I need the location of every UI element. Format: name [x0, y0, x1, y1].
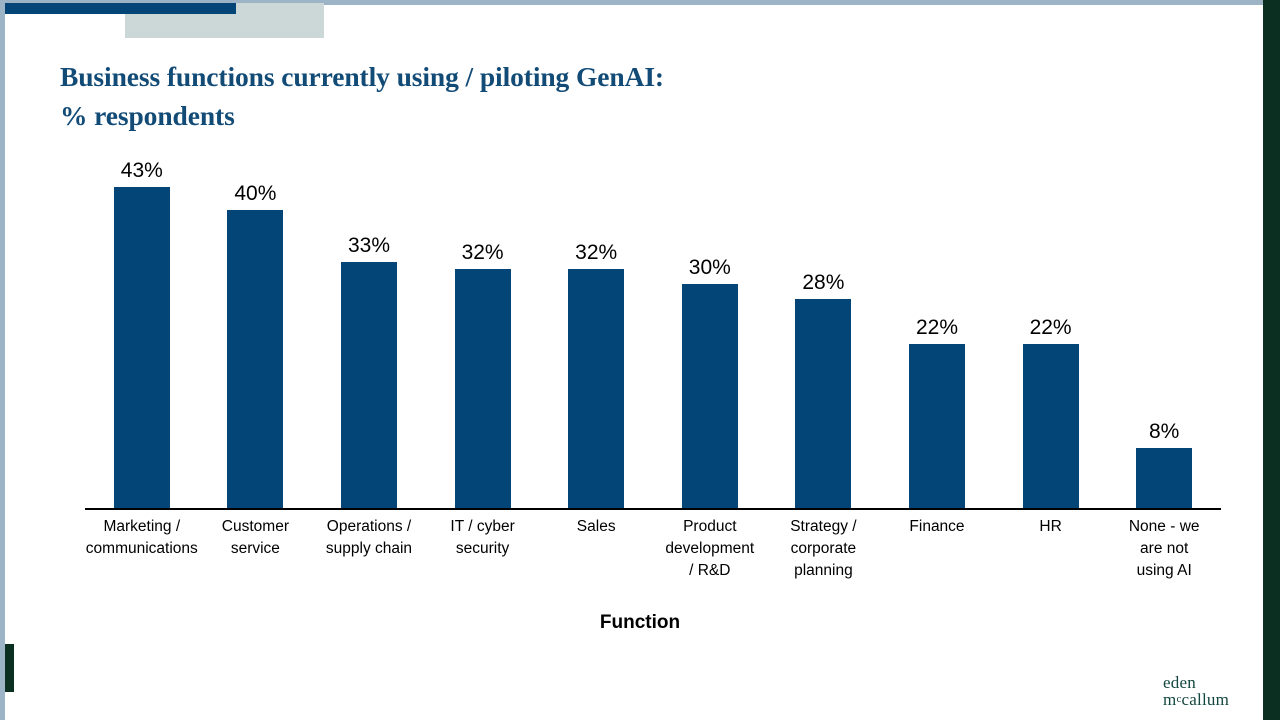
- bar-slot: 30%: [653, 150, 767, 508]
- chart-category-labels: Marketing /communicationsCustomerservice…: [85, 516, 1221, 606]
- chart-bar[interactable]: [227, 210, 283, 508]
- category-label-line: using AI: [1107, 560, 1221, 582]
- category-label-line: / R&D: [653, 560, 767, 582]
- page-title-line-1: Business functions currently using / pil…: [60, 57, 960, 96]
- category-label-line: None - we: [1107, 516, 1221, 538]
- category-label: Operations /supply chain: [312, 516, 426, 560]
- slide-canvas: Business functions currently using / pil…: [0, 0, 1280, 720]
- bar-value-label: 40%: [234, 182, 276, 206]
- chart-bar[interactable]: [341, 262, 397, 508]
- bar-value-label: 43%: [121, 159, 163, 183]
- category-label-line: IT / cyber: [426, 516, 540, 538]
- bar-value-label: 30%: [689, 256, 731, 280]
- bar-value-label: 32%: [462, 241, 504, 265]
- bar-value-label: 22%: [916, 316, 958, 340]
- category-label-line: supply chain: [312, 538, 426, 560]
- logo-m: m: [1163, 690, 1176, 709]
- chart-bar[interactable]: [795, 299, 851, 508]
- eden-mccallum-logo: eden mccallum: [1163, 674, 1229, 708]
- bar-value-label: 32%: [575, 241, 617, 265]
- bar-slot: 32%: [539, 150, 653, 508]
- bar-value-label: 33%: [348, 234, 390, 258]
- chart-bar[interactable]: [1023, 344, 1079, 508]
- chart-x-axis-title: Function: [0, 612, 1280, 634]
- bar-slot: 32%: [426, 150, 540, 508]
- category-label-line: Finance: [880, 516, 994, 538]
- page-title-line-2: % respondents: [60, 96, 960, 135]
- chart-x-axis-line: [85, 508, 1221, 510]
- category-label: Marketing /communications: [85, 516, 199, 560]
- chart-plot-area: 43%40%33%32%32%30%28%22%22%8%: [85, 150, 1221, 508]
- category-label: Sales: [539, 516, 653, 538]
- logo-line-1: eden: [1163, 674, 1229, 691]
- category-label: Customerservice: [199, 516, 313, 560]
- chart-bar[interactable]: [568, 269, 624, 508]
- category-label-line: Marketing /: [85, 516, 199, 538]
- category-label-line: communications: [85, 538, 199, 560]
- category-label-line: service: [199, 538, 313, 560]
- category-label: HR: [994, 516, 1108, 538]
- bottom-left-accent-bar: [5, 644, 14, 692]
- bar-slot: 43%: [85, 150, 199, 508]
- category-label: Productdevelopment/ R&D: [653, 516, 767, 582]
- category-label: None - weare notusing AI: [1107, 516, 1221, 582]
- bar-slot: 28%: [767, 150, 881, 508]
- category-label: Strategy /corporateplanning: [767, 516, 881, 582]
- category-label-line: development: [653, 538, 767, 560]
- bar-slot: 40%: [199, 150, 313, 508]
- category-label-line: security: [426, 538, 540, 560]
- category-label-line: Sales: [539, 516, 653, 538]
- chart-bar[interactable]: [455, 269, 511, 508]
- category-label-line: Customer: [199, 516, 313, 538]
- header-blue-tab: [5, 3, 236, 14]
- bar-slot: 33%: [312, 150, 426, 508]
- chart-bar[interactable]: [1136, 448, 1192, 508]
- logo-line-2: mccallum: [1163, 691, 1229, 708]
- chart-bar[interactable]: [114, 187, 170, 508]
- bar-slot: 22%: [880, 150, 994, 508]
- chart-bar[interactable]: [909, 344, 965, 508]
- bar-value-label: 8%: [1149, 420, 1179, 444]
- chart-bar[interactable]: [682, 284, 738, 508]
- bar-value-label: 28%: [802, 271, 844, 295]
- category-label-line: Strategy /: [767, 516, 881, 538]
- category-label: IT / cybersecurity: [426, 516, 540, 560]
- page-title: Business functions currently using / pil…: [60, 57, 960, 135]
- bar-value-label: 22%: [1030, 316, 1072, 340]
- bar-slot: 8%: [1107, 150, 1221, 508]
- category-label-line: HR: [994, 516, 1108, 538]
- logo-callum: callum: [1182, 690, 1229, 709]
- category-label-line: planning: [767, 560, 881, 582]
- category-label-line: Product: [653, 516, 767, 538]
- category-label-line: are not: [1107, 538, 1221, 560]
- category-label: Finance: [880, 516, 994, 538]
- category-label-line: corporate: [767, 538, 881, 560]
- bar-slot: 22%: [994, 150, 1108, 508]
- category-label-line: Operations /: [312, 516, 426, 538]
